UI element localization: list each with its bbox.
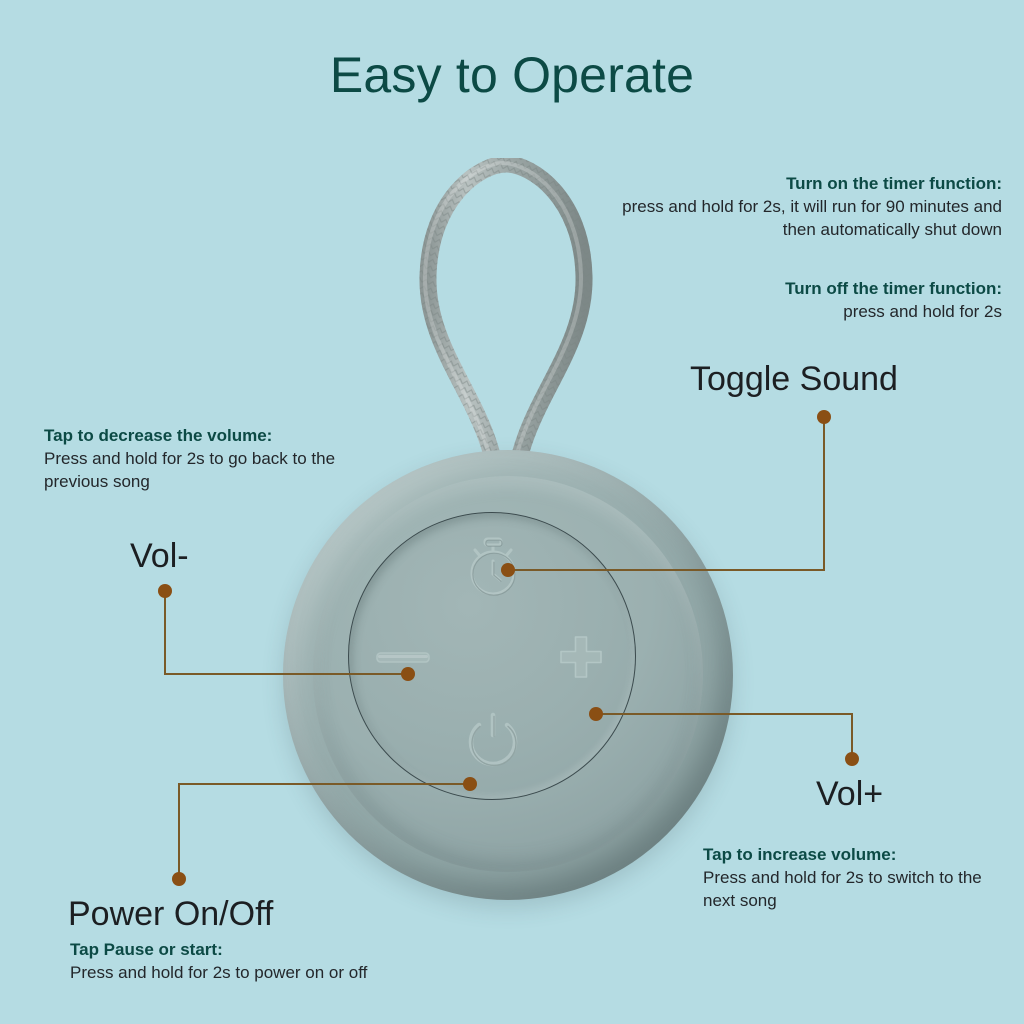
power-icon[interactable] <box>461 709 525 777</box>
note-power: Tap Pause or start: Press and hold for 2… <box>70 938 500 984</box>
stopwatch-icon[interactable] <box>459 533 527 601</box>
dot-toggle-sound-label <box>817 410 831 424</box>
portable-speaker-device <box>283 450 733 900</box>
note-power-body: Press and hold for 2s to power on or off <box>70 961 500 984</box>
callout-vol-up: Vol+ <box>816 777 883 811</box>
page-title: Easy to Operate <box>0 48 1024 103</box>
dot-vol-down-label <box>158 584 172 598</box>
callout-power: Power On/Off <box>68 897 273 931</box>
note-timer-on-heading: Turn on the timer function: <box>622 172 1002 195</box>
note-timer-on-body: press and hold for 2s, it will run for 9… <box>622 195 1002 241</box>
note-vol-up-heading: Tap to increase volume: <box>703 843 1013 866</box>
note-power-heading: Tap Pause or start: <box>70 938 500 961</box>
lanyard-strap <box>418 158 594 498</box>
note-timer-on: Turn on the timer function: press and ho… <box>622 172 1002 241</box>
note-vol-up: Tap to increase volume: Press and hold f… <box>703 843 1013 912</box>
callout-vol-down: Vol- <box>130 539 189 573</box>
note-vol-down-heading: Tap to decrease the volume: <box>44 424 374 447</box>
note-timer-off-heading: Turn off the timer function: <box>622 277 1002 300</box>
callout-toggle-sound: Toggle Sound <box>690 362 898 396</box>
note-vol-down-body: Press and hold for 2s to go back to the … <box>44 447 374 493</box>
minus-icon[interactable] <box>371 631 435 683</box>
speaker-control-panel[interactable] <box>348 512 636 800</box>
infographic-canvas: Easy to Operate <box>0 0 1024 1024</box>
note-vol-up-body: Press and hold for 2s to switch to the n… <box>703 866 1013 912</box>
note-timer-off-body: press and hold for 2s <box>622 300 1002 323</box>
dot-power-label <box>172 872 186 886</box>
dot-vol-up-label <box>845 752 859 766</box>
note-timer-off: Turn off the timer function: press and h… <box>622 277 1002 323</box>
plus-icon[interactable] <box>549 625 613 689</box>
note-vol-down: Tap to decrease the volume: Press and ho… <box>44 424 374 493</box>
